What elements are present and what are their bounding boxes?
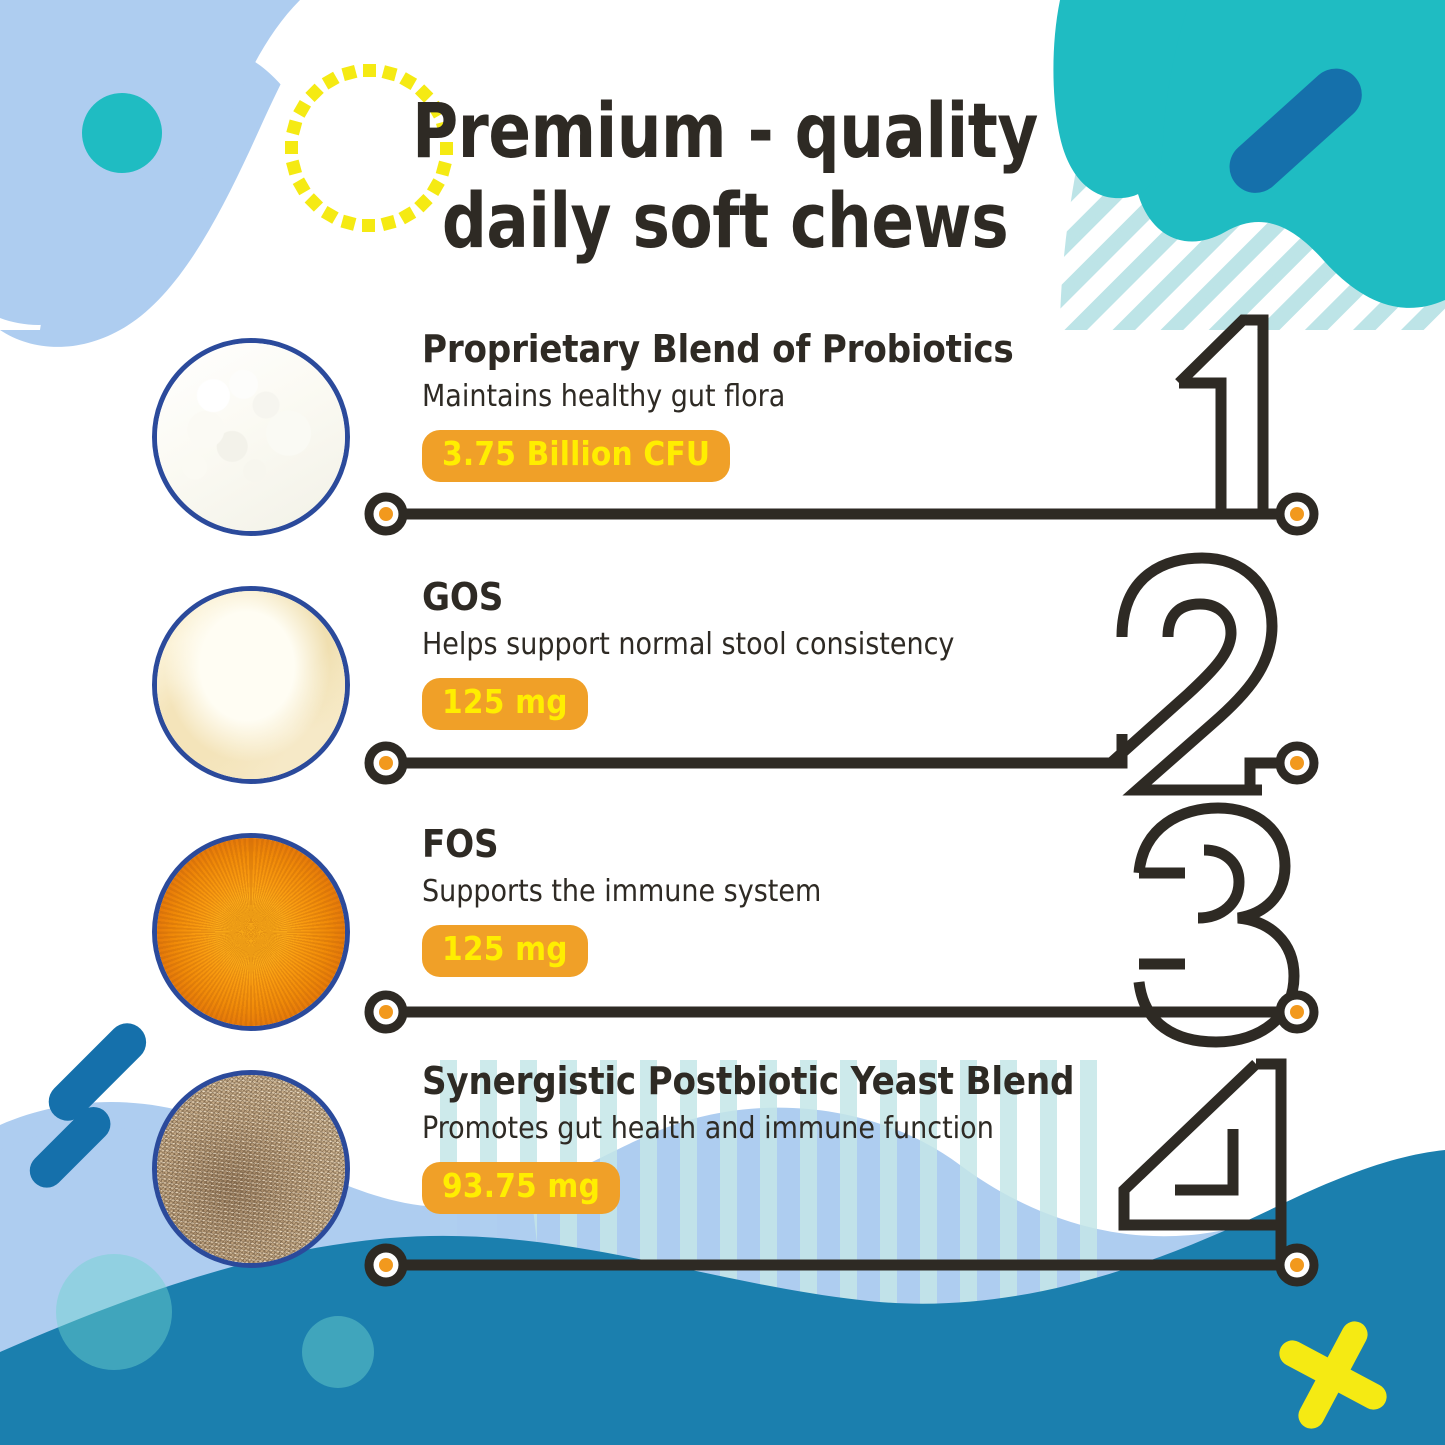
ingredient-title-2: GOS	[422, 578, 1122, 616]
ingredient-amount-badge-2: 125 mg	[422, 678, 588, 730]
ingredient-text-2: GOS Helps support normal stool consisten…	[422, 578, 1122, 730]
page-title-line-2: daily soft chews	[362, 176, 1089, 266]
ingredient-subtitle-4: Promotes gut health and immune function	[422, 1114, 1122, 1144]
ingredient-thumbnail-3	[152, 833, 350, 1031]
page-title-line-1: Premium - quality	[412, 86, 1038, 175]
cream-swatch-icon	[157, 591, 345, 779]
ingredient-title-3: FOS	[422, 825, 1122, 863]
ingredient-title-4: Synergistic Postbiotic Yeast Blend	[422, 1062, 1122, 1100]
bottom-teal-circle-b	[302, 1316, 374, 1388]
ingredient-subtitle-2: Helps support normal stool consistency	[422, 630, 1122, 660]
yeast-granules-swatch-icon	[157, 1075, 345, 1263]
ingredient-thumbnail-4	[152, 1070, 350, 1268]
ingredient-text-1: Proprietary Blend of Probiotics Maintain…	[422, 330, 1122, 482]
ingredient-text-4: Synergistic Postbiotic Yeast Blend Promo…	[422, 1062, 1122, 1214]
bottom-teal-circle-a	[56, 1254, 172, 1370]
ingredient-amount-badge-4: 93.75 mg	[422, 1162, 620, 1214]
ingredient-thumbnail-1	[152, 338, 350, 536]
ingredient-title-1: Proprietary Blend of Probiotics	[422, 330, 1122, 368]
infographic-page: Premium - quality daily soft chews	[0, 0, 1445, 1445]
page-title: Premium - quality daily soft chews	[362, 86, 1089, 265]
ingredient-amount-badge-3: 125 mg	[422, 925, 588, 977]
ingredient-text-3: FOS Supports the immune system 125 mg	[422, 825, 1122, 977]
ingredient-subtitle-3: Supports the immune system	[422, 877, 1122, 907]
ingredient-thumbnail-2	[152, 586, 350, 784]
ingredient-amount-badge-1: 3.75 Billion CFU	[422, 430, 730, 482]
yogurt-swatch-icon	[157, 343, 345, 531]
chicory-root-swatch-icon	[157, 838, 345, 1026]
ingredient-subtitle-1: Maintains healthy gut flora	[422, 382, 1122, 412]
top-left-teal-circle	[82, 93, 162, 173]
